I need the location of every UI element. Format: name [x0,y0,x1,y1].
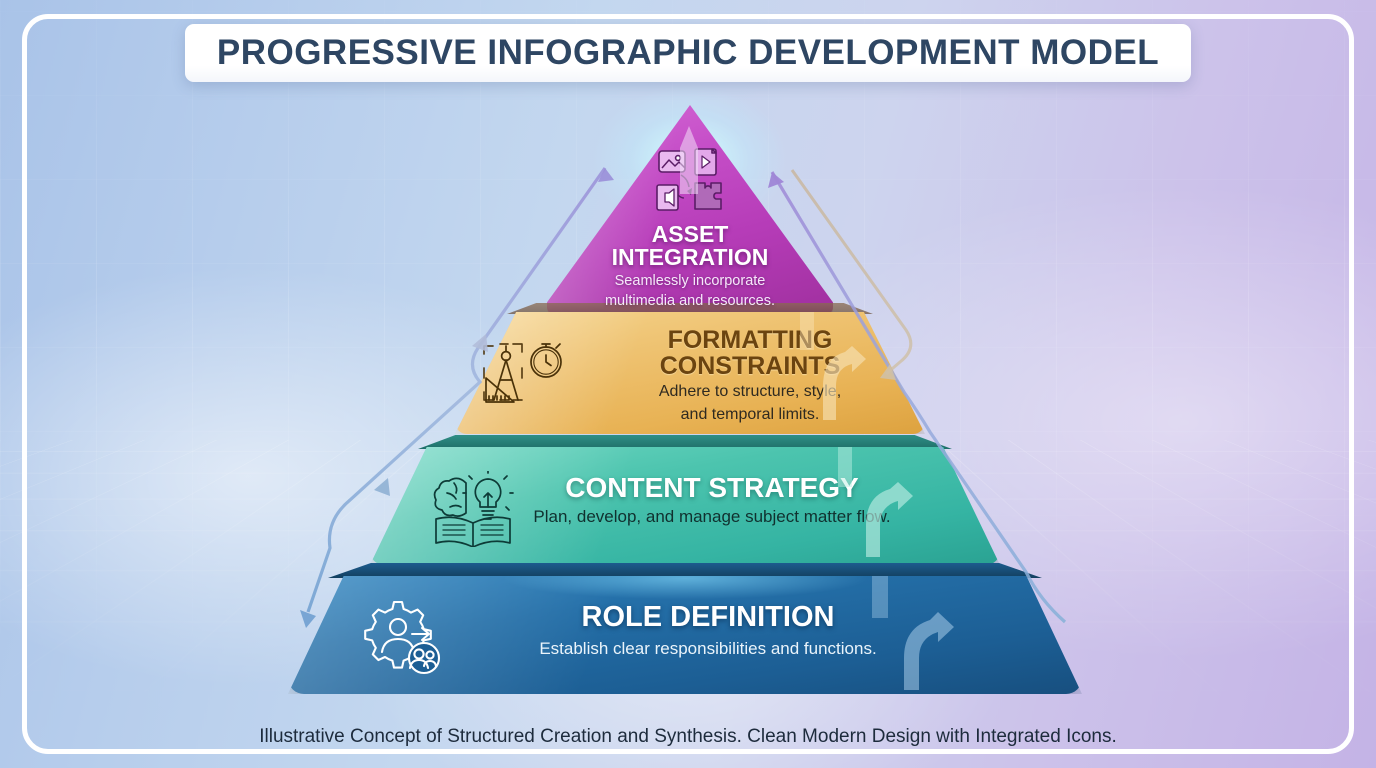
level-desc-line1: Seamlessly incorporate [615,273,766,290]
page-title: PROGRESSIVE INFOGRAPHIC DEVELOPMENT MODE… [217,33,1159,73]
level-desc-line2: multimedia and resources. [605,293,775,310]
pyramid-level-role-definition[interactable]: ROLE DEFINITION Establish clear responsi… [288,576,1082,694]
pyramid-level-content-strategy[interactable]: CONTENT STRATEGY Plan, develop, and mana… [370,447,1000,565]
level-top-shadow [328,563,1042,578]
footer-caption-text: Illustrative Concept of Structured Creat… [259,726,1117,747]
level-desc-line1: Establish clear responsibilities and fun… [539,639,876,659]
media-assets-puzzle-icon [656,145,728,213]
level-title-line2: CONSTRAINTS [660,354,841,380]
title-bar: PROGRESSIVE INFOGRAPHIC DEVELOPMENT MODE… [185,24,1191,82]
level-title-line1: ROLE DEFINITION [582,603,835,633]
pyramid-level-asset-integration[interactable]: ASSET INTEGRATION Seamlessly incorporate… [547,105,833,315]
level-title-line1: ASSET [652,223,729,246]
level-desc-line1: Adhere to structure, style, [659,383,841,402]
level-title-line1: CONTENT STRATEGY [565,474,858,503]
compass-ruler-stopwatch-icon [480,338,566,412]
pyramid-diagram: ASSET INTEGRATION Seamlessly incorporate… [0,0,1376,768]
level-desc-line2: and temporal limits. [681,406,820,425]
level-label: ROLE DEFINITION Establish clear responsi… [468,603,948,659]
gear-user-group-icon [360,598,450,678]
level-label: FORMATTING CONSTRAINTS Adhere to structu… [585,328,915,425]
pyramid-level-formatting-constraints[interactable]: FORMATTING CONSTRAINTS Adhere to structu… [455,312,925,434]
level-label: CONTENT STRATEGY Plan, develop, and mana… [502,474,922,527]
level-desc-line1: Plan, develop, and manage subject matter… [533,507,890,527]
level-top-shadow [418,435,952,449]
level-title-line2: INTEGRATION [612,246,769,269]
level-title-line1: FORMATTING [668,328,833,354]
level-label: ASSET INTEGRATION Seamlessly incorporate… [547,223,833,310]
footer-caption: Illustrative Concept of Structured Creat… [0,726,1376,748]
